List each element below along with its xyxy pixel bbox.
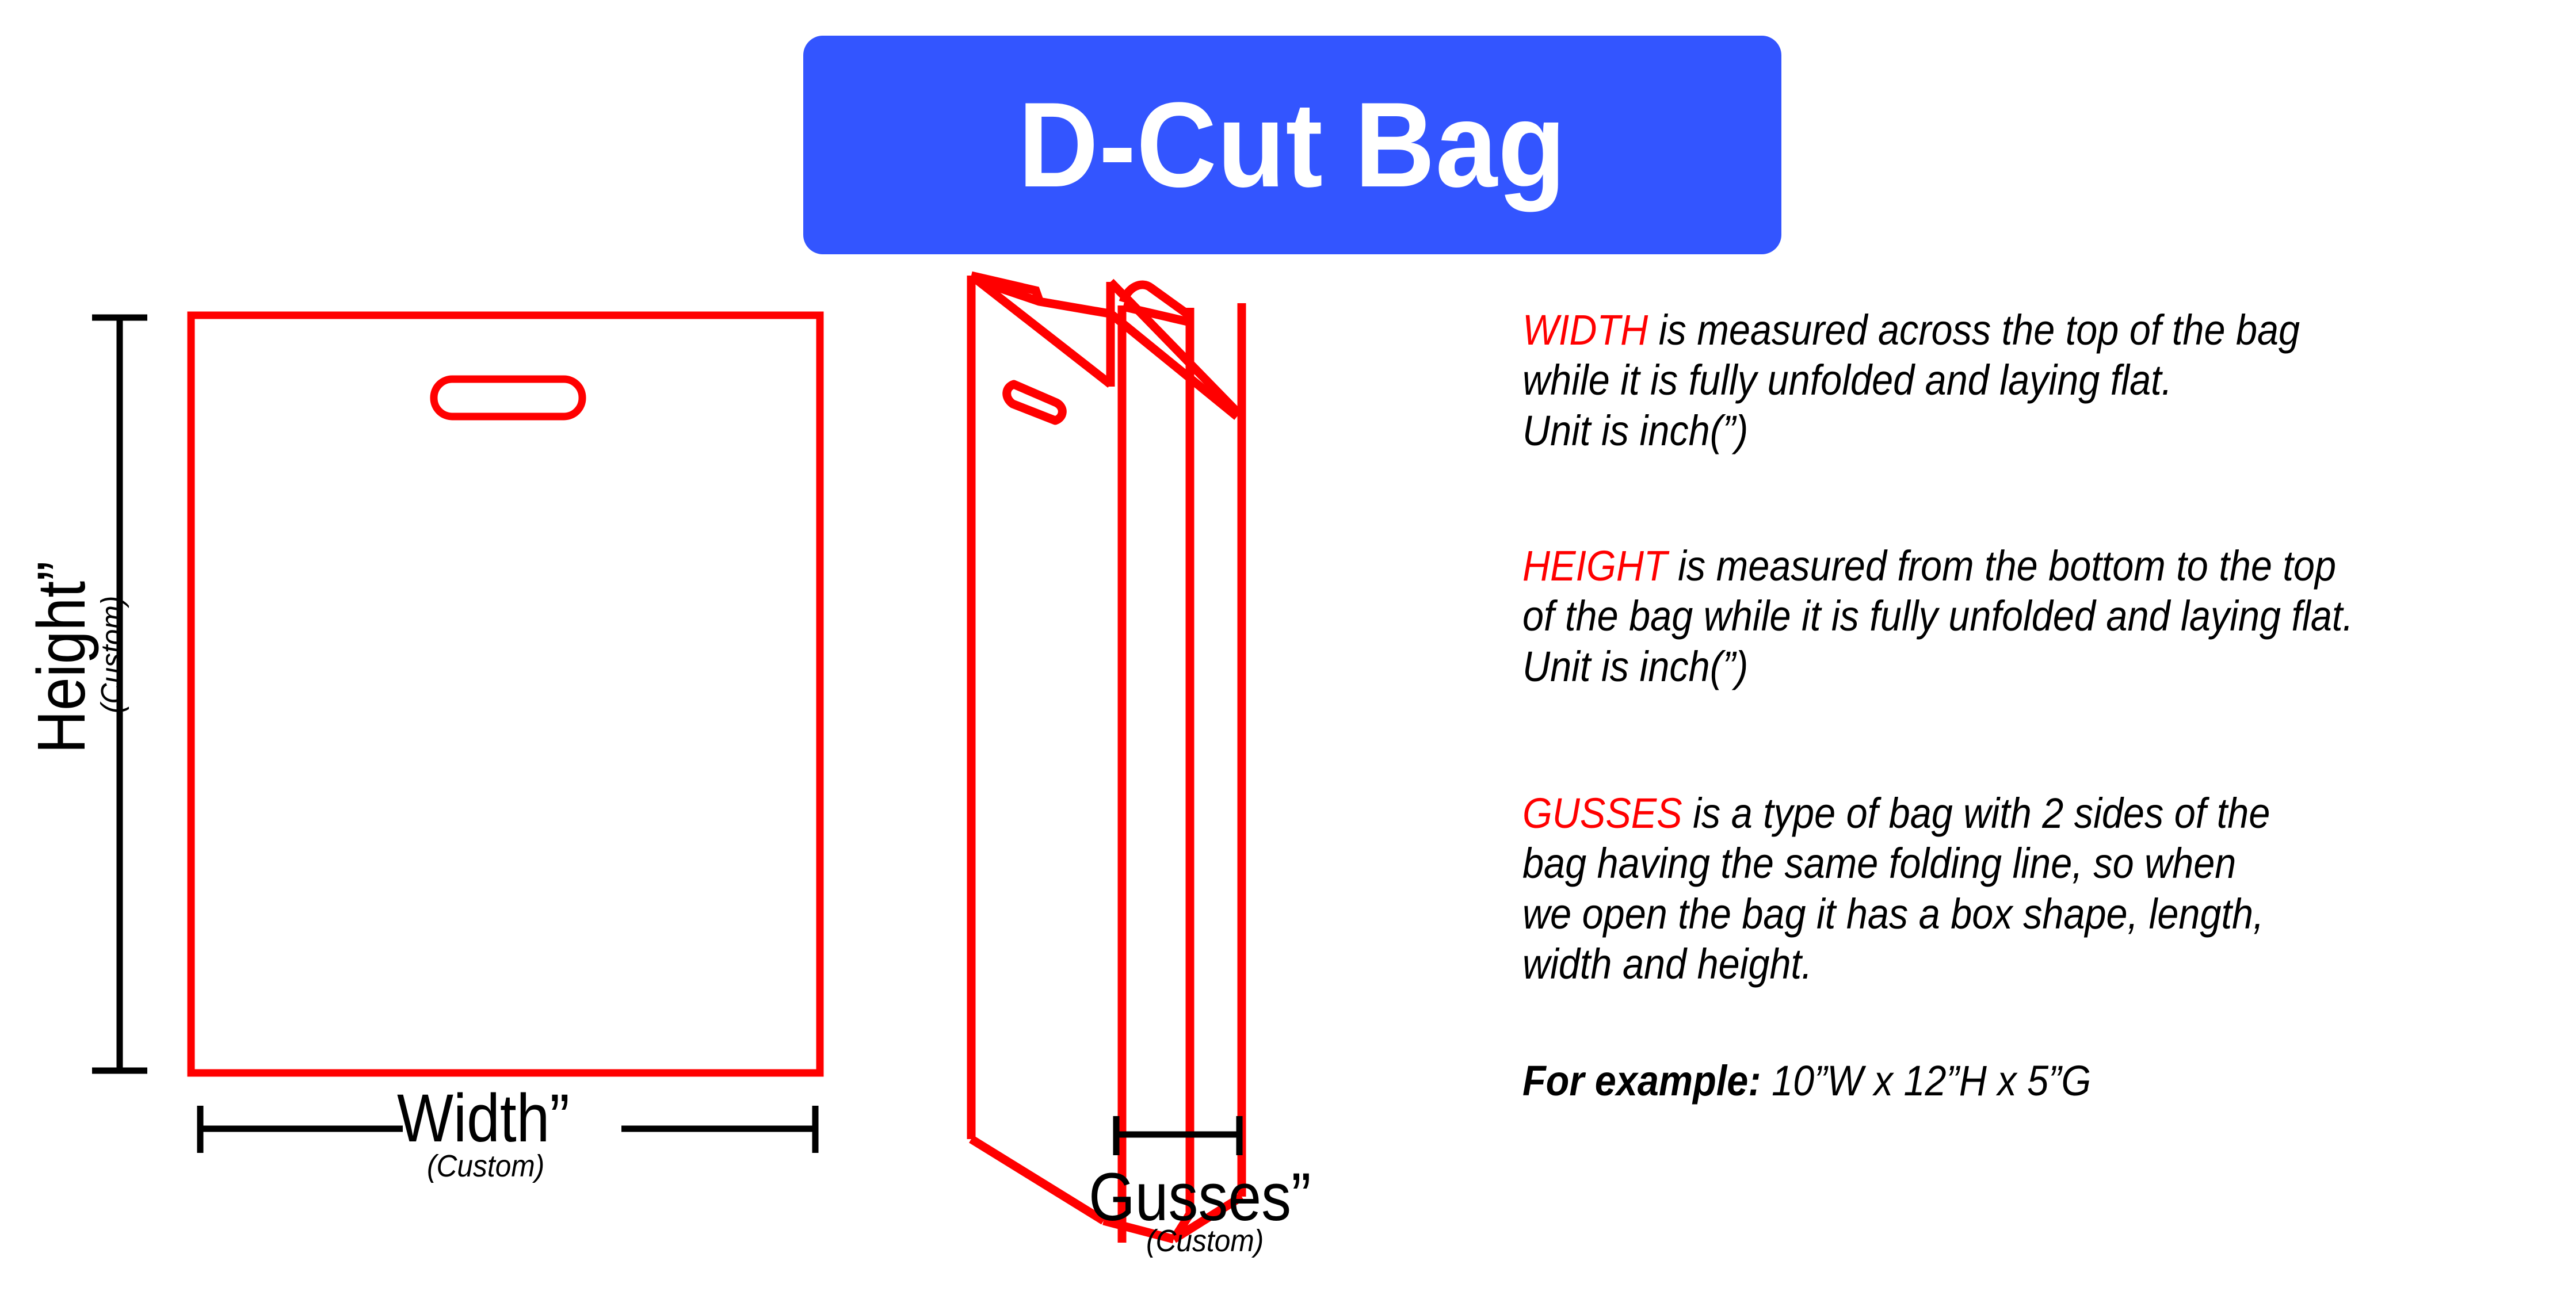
height-keyword: HEIGHT	[1522, 542, 1667, 590]
gusses-explanation: GUSSES is a type of bag with 2 sides of …	[1522, 788, 2455, 989]
width-dimension-label: Width”	[397, 1084, 570, 1152]
gusses-explanation-line3: we open the bag it has a box shape, leng…	[1522, 890, 2264, 938]
width-explanation: WIDTH is measured across the top of the …	[1522, 305, 2455, 456]
height-explanation-line2: of the bag while it is fully unfolded an…	[1522, 592, 2353, 640]
height-dimension-sublabel: (Custom)	[97, 596, 128, 713]
example-label: For example:	[1522, 1057, 1761, 1105]
gusses-dimension-line	[1115, 1116, 1241, 1155]
gusses-keyword: GUSSES	[1522, 789, 1682, 837]
height-dimension-label: Height”	[28, 561, 96, 754]
height-explanation: HEIGHT is measured from the bottom to th…	[1522, 541, 2455, 692]
gusses-explanation-line1: is a type of bag with 2 sides of the	[1682, 789, 2270, 837]
die-cut-handle-icon	[434, 379, 582, 417]
gusses-dimension-sublabel: (Custom)	[1146, 1225, 1264, 1256]
gusses-explanation-line4: width and height.	[1522, 940, 1812, 988]
gusses-explanation-line2: bag having the same folding line, so whe…	[1522, 839, 2236, 887]
measurement-explanations: WIDTH is measured across the top of the …	[1522, 305, 2558, 1106]
flat-bag-diagram	[191, 315, 820, 1073]
page-title: D-Cut Bag	[1018, 85, 1567, 205]
width-explanation-line1: is measured across the top of the bag	[1648, 306, 2300, 354]
width-dimension-sublabel: (Custom)	[427, 1151, 544, 1182]
example-value: 10”W x 12”H x 5”G	[1761, 1057, 2092, 1105]
title-banner: D-Cut Bag	[803, 36, 1781, 254]
flat-bag-outline	[191, 315, 820, 1073]
height-explanation-line3: Unit is inch(”)	[1522, 643, 1748, 690]
width-explanation-line2: while it is fully unfolded and laying fl…	[1522, 356, 2172, 404]
dcut-bag-spec-sheet: D-Cut Bag	[0, 0, 2576, 1295]
width-explanation-line3: Unit is inch(”)	[1522, 407, 1748, 454]
width-keyword: WIDTH	[1522, 306, 1648, 354]
gusses-dimension-label: Gusses”	[1089, 1163, 1311, 1231]
die-cut-handle-icon	[1007, 384, 1063, 421]
example-line: For example: 10”W x 12”H x 5”G	[1522, 1056, 2455, 1106]
gusseted-bag-diagram	[971, 276, 1242, 1243]
height-explanation-line1: is measured from the bottom to the top	[1667, 542, 2336, 590]
